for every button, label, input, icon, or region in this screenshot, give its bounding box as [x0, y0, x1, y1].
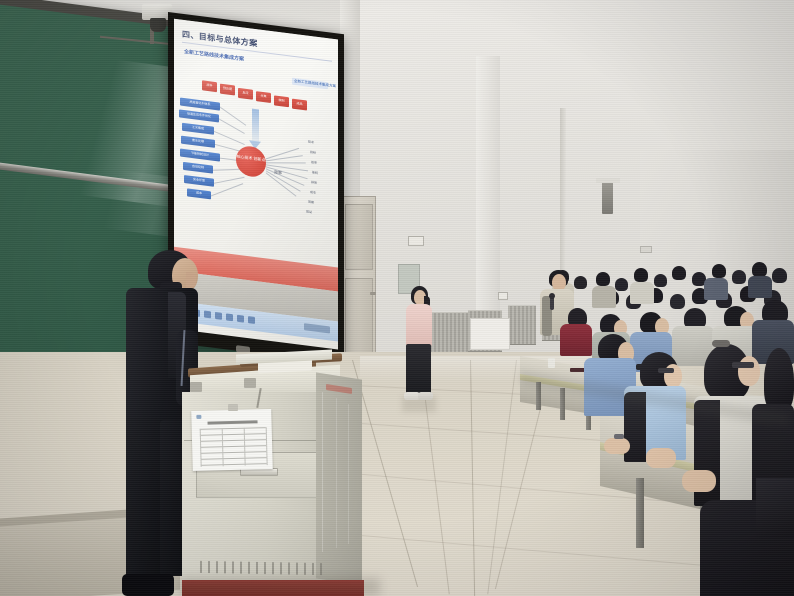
door-panel	[345, 278, 373, 358]
presenter-shoe	[122, 574, 174, 596]
student-head	[752, 262, 767, 277]
student-torso	[748, 276, 772, 298]
student-hands	[604, 438, 630, 454]
camera-lens-icon	[150, 18, 166, 32]
radiator	[508, 305, 536, 345]
student-head	[732, 270, 746, 284]
microphone-head-icon	[549, 293, 555, 299]
wall-whiteboard-panel	[470, 318, 510, 350]
student-head	[764, 348, 794, 412]
desk-leg	[560, 388, 565, 420]
lectern-vent	[200, 561, 324, 575]
desk-leg	[636, 478, 644, 548]
student-head	[634, 268, 648, 282]
slide-surface: 四、目标与总体方案 全新工艺路线技术集成方案 全新工艺路线技术集成方案 原料 预…	[174, 19, 338, 350]
student-head	[672, 266, 686, 280]
lectern-log-sheet[interactable]	[191, 409, 273, 471]
student-torso	[704, 278, 728, 300]
screen-glare	[174, 19, 338, 350]
wall-box	[408, 236, 424, 246]
log-sheet-logo-icon	[196, 415, 201, 419]
door-handle[interactable]	[370, 292, 376, 295]
staff-shadow	[402, 396, 436, 412]
student-hands	[682, 470, 716, 492]
student-head	[615, 278, 628, 291]
classroom-photo: 四、目标与总体方案 全新工艺路线技术集成方案 全新工艺路线技术集成方案 原料 预…	[0, 0, 794, 596]
student-head	[574, 276, 587, 289]
student-head	[772, 268, 787, 283]
lectern-side-line	[322, 392, 323, 552]
wall-outlet	[498, 292, 508, 300]
student-torso	[560, 324, 592, 356]
staff-pants	[406, 344, 431, 396]
glasses-icon	[732, 362, 754, 368]
lectern-bracket	[190, 382, 202, 392]
log-sheet-title	[208, 420, 258, 424]
student-head	[596, 272, 610, 286]
wall-speaker-icon	[602, 182, 613, 214]
student-hands	[646, 448, 676, 468]
lectern-shadow	[180, 578, 380, 596]
lectern-bracket	[244, 378, 256, 388]
presenter-face	[186, 272, 196, 288]
lectern-side-line	[348, 404, 349, 544]
glasses-icon	[658, 368, 674, 373]
door-panel	[345, 204, 373, 270]
student-head	[654, 274, 667, 287]
student-head	[670, 294, 685, 309]
paper-clip-icon	[228, 404, 238, 411]
hair-clip-icon	[712, 340, 730, 347]
student-torso	[592, 286, 616, 308]
student-torso	[630, 282, 654, 304]
student-head	[712, 264, 726, 278]
water-bottle	[548, 358, 555, 368]
student-seated-foreground	[756, 478, 794, 538]
wristwatch-icon	[614, 434, 624, 439]
speaker-bracket	[596, 178, 620, 183]
wall-box	[640, 246, 652, 253]
lectern-side-line	[336, 398, 337, 548]
student-face	[738, 356, 760, 386]
staff-top	[406, 304, 432, 346]
